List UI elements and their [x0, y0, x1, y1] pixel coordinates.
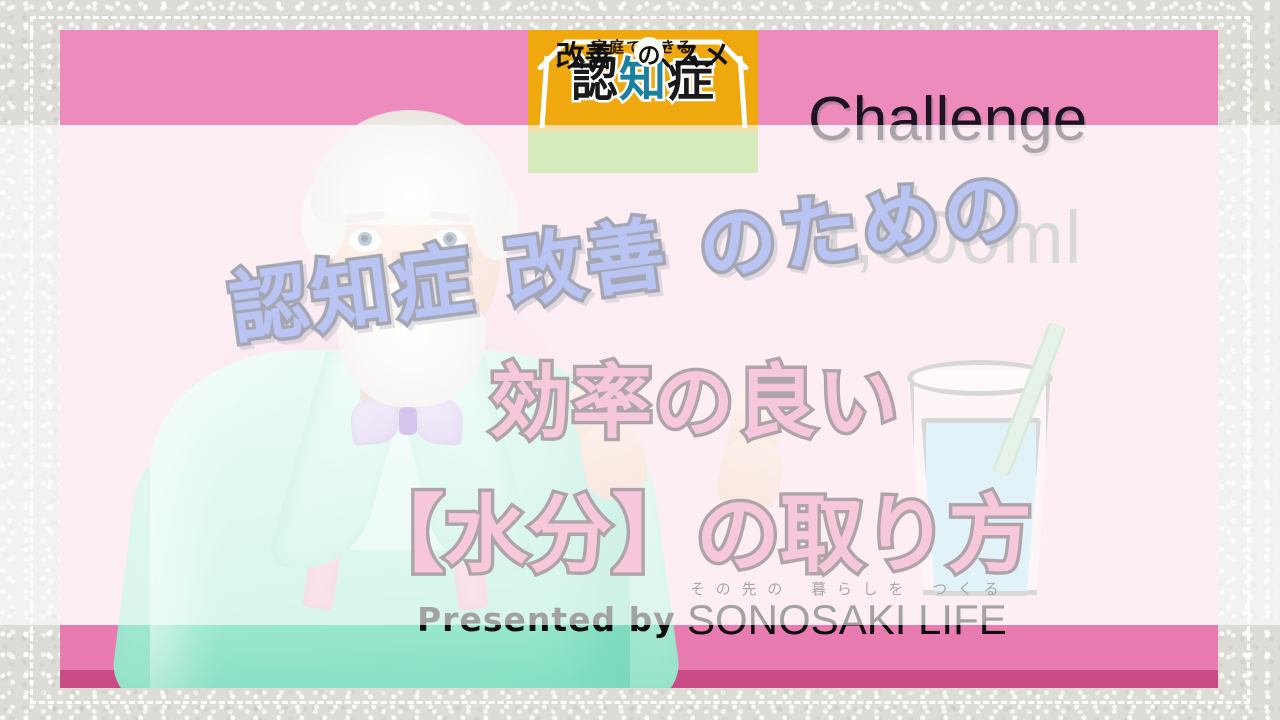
- bow-tie-knot: [399, 407, 417, 435]
- video-thumbnail: 1,500ml 認知症 改善 のための 認知症 改善 のための 効率の良い 効率…: [0, 0, 1280, 720]
- white-hair: [311, 110, 509, 225]
- title-line-2: 効率の良い: [490, 338, 900, 454]
- logo-bottom-left: 改善: [555, 39, 613, 73]
- challenge-heading: Challenge: [808, 84, 1087, 155]
- logo-bottom-box: [528, 131, 758, 173]
- logo-circle-char: の: [634, 36, 664, 70]
- title-line-3: 【水分】の取り方: [360, 468, 1032, 589]
- brand-name: SONOSAKI LIFE: [687, 596, 1007, 644]
- presented-by-label: Presented by: [417, 600, 676, 639]
- artwork-canvas: 1,500ml 認知症 改善 のための 認知症 改善 のための 効率の良い 効率…: [60, 30, 1218, 688]
- series-logo-badge: 家庭でできる 認知症 改善ススメ の: [528, 30, 758, 173]
